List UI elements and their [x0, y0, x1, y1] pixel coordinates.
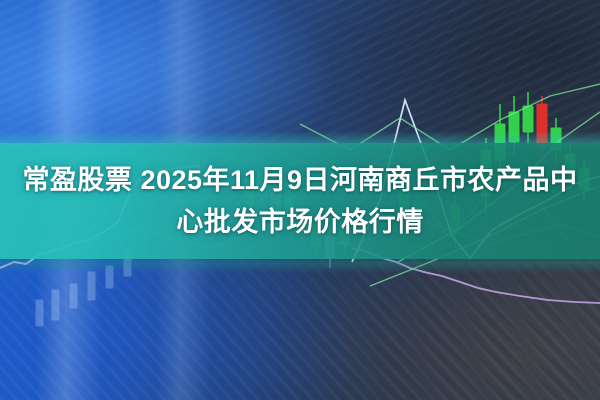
stock-news-banner: 常盈股票 2025年11月9日河南商丘市农产品中 心批发市场价格行情 [0, 0, 600, 400]
title-line-2: 心批发市场价格行情 [176, 202, 424, 242]
banner-title: 常盈股票 2025年11月9日河南商丘市农产品中 心批发市场价格行情 [0, 143, 600, 259]
title-line-1: 常盈股票 2025年11月9日河南商丘市农产品中 [22, 160, 577, 200]
